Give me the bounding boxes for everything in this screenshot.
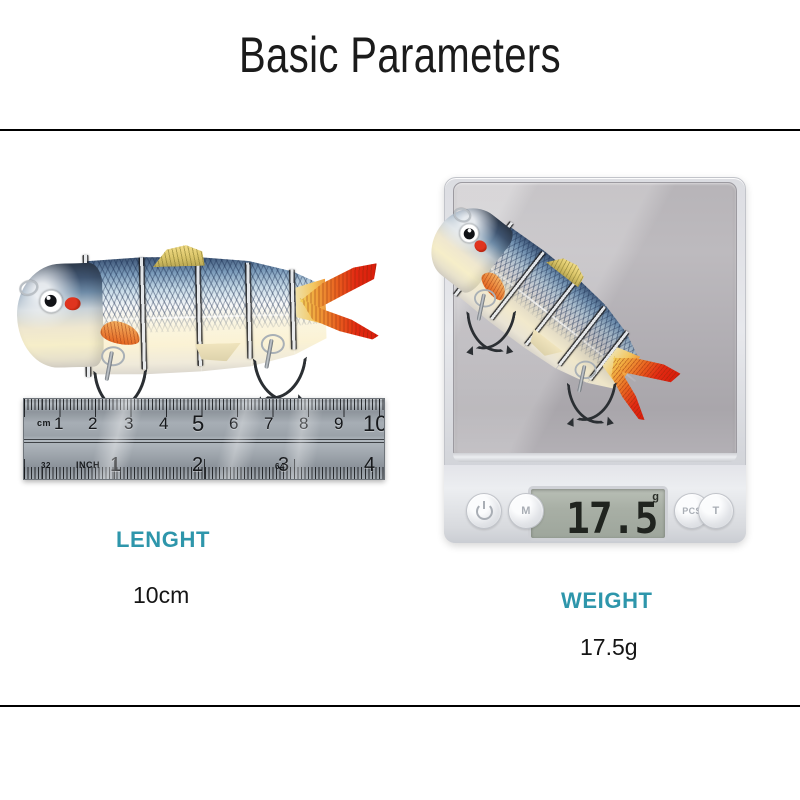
lcd-value: 17.5 — [566, 498, 658, 541]
tare-button[interactable]: T — [698, 493, 734, 529]
bottom-divider — [0, 705, 800, 707]
ruler-cm-number: 5 — [192, 411, 204, 437]
lure-tail-fin — [299, 263, 383, 351]
scale-lcd-display: g 17.5 — [528, 486, 668, 541]
lure-treble-hook — [246, 329, 310, 405]
top-divider — [0, 129, 800, 131]
digital-scale: g 17.5 M PCS T — [444, 177, 746, 543]
ruler-inch-number: 3 — [278, 454, 289, 477]
length-label: LENGHT — [116, 527, 210, 553]
infographic-page: Basic Parameters — [0, 0, 800, 800]
ruler-inch-number: 1 — [110, 454, 121, 477]
page-title: Basic Parameters — [80, 26, 720, 84]
mode-button[interactable]: M — [508, 493, 544, 529]
ruler-cm-number: 6 — [229, 414, 238, 434]
ruler-cm-number: 9 — [334, 414, 343, 434]
ruler-cm-number: 2 — [88, 414, 97, 434]
ruler-center-line — [24, 439, 384, 440]
ruler-cm-number: 10 — [363, 411, 385, 437]
ruler: cm INCH 32 64 1 2 3 4 5 6 7 8 9 10 1 2 3… — [23, 398, 385, 480]
ruler-center-line — [24, 442, 384, 443]
lure-image-length — [16, 243, 379, 382]
ruler-cm-number: 4 — [159, 414, 168, 434]
scale-platform-lip — [453, 453, 737, 462]
power-button[interactable] — [466, 493, 502, 529]
weight-label: WEIGHT — [561, 588, 653, 614]
ruler-cm-label: cm — [37, 418, 51, 428]
ruler-inch-label: INCH — [76, 460, 100, 470]
ruler-inch-number: 4 — [364, 454, 375, 477]
lure-segment — [142, 248, 201, 379]
ruler-cm-number: 7 — [264, 414, 273, 434]
lure-treble-hook — [562, 357, 619, 425]
ruler-fraction-32-label: 32 — [41, 461, 51, 470]
weight-value: 17.5g — [580, 634, 638, 661]
ruler-cm-number: 8 — [299, 414, 308, 434]
lure-treble-hook — [461, 285, 518, 353]
length-value: 10cm — [133, 582, 189, 609]
power-icon — [476, 503, 493, 520]
ruler-inch-number: 2 — [192, 454, 203, 477]
ruler-cm-number: 3 — [124, 414, 133, 434]
ruler-cm-number: 1 — [54, 414, 63, 434]
